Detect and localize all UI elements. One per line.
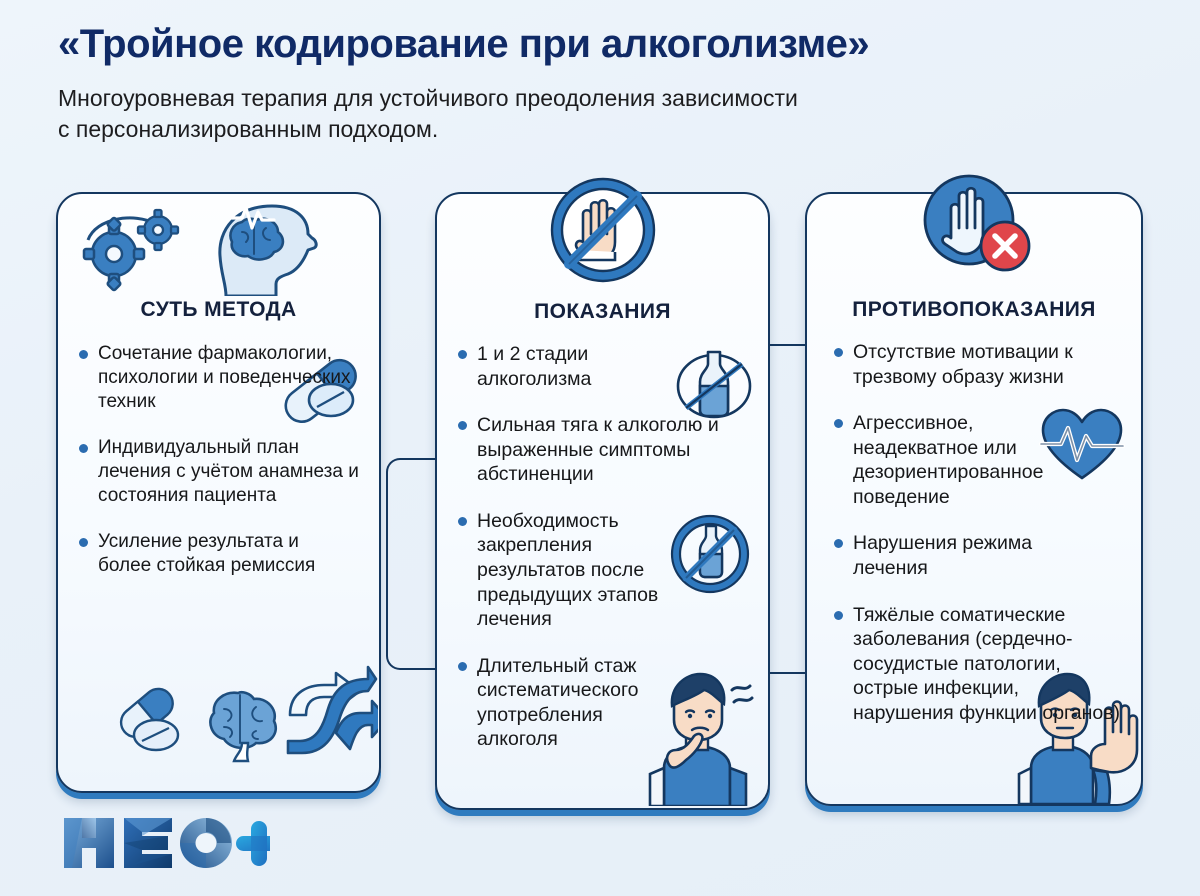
list-item: Отсутствие мотивации к трезвому образу ж… (831, 340, 1123, 389)
list-item: Индивидуальный план лечения с учётом ана… (76, 436, 361, 508)
bullet-list-pokazaniya: 1 и 2 стадии алкоголизма Сильная тяга к … (455, 342, 750, 752)
brain-icon (210, 692, 275, 761)
cards-row: СУТЬ МЕТОДА Сочетание фармакологии, псих… (0, 192, 1200, 812)
list-item: Необходимость закрепления результатов по… (455, 509, 680, 632)
card-protivopokazaniya[interactable]: ПРОТИВОПОКАЗАНИЯ Отсутствие мотивации к … (805, 192, 1143, 806)
list-item: Сочетание фармакологии, психологии и пов… (76, 342, 354, 414)
list-item: Длительный стаж систематического употреб… (455, 654, 673, 752)
neo-plus-logo[interactable] (60, 812, 270, 874)
card-pokazaniya[interactable]: ПОКАЗАНИЯ 1 и 2 стадии алкоголизма Сильн… (435, 192, 770, 810)
page-title: «Тройное кодирование при алкоголизме» (58, 22, 1150, 67)
list-item: Сильная тяга к алкоголю и выраженные сим… (455, 413, 747, 487)
list-item: Тяжёлые соматические заболевания (сердеч… (831, 603, 1123, 726)
stop-hand-prohibited-icon (545, 172, 661, 288)
list-item: Нарушения режима лечения (831, 531, 1041, 580)
list-item: 1 и 2 стадии алкоголизма (455, 342, 633, 391)
connector-bracket-left (386, 458, 438, 670)
page-subtitle: Многоуровневая терапия для устойчивого п… (58, 83, 1150, 145)
shuffle-arrows-icon (288, 667, 378, 753)
card-sut-metoda[interactable]: СУТЬ МЕТОДА Сочетание фармакологии, псих… (56, 192, 381, 793)
bullet-list-sut-metoda: Сочетание фармакологии, психологии и пов… (76, 342, 361, 578)
list-item: Усиление результата и более стойкая реми… (76, 530, 346, 578)
subtitle-line-1: Многоуровневая терапия для устойчивого п… (58, 83, 1150, 114)
pill-capsule-tablet-icon (115, 683, 178, 750)
bullet-list-protivopokazaniya: Отсутствие мотивации к трезвому образу ж… (825, 340, 1123, 725)
stop-hand-red-cross-icon (915, 168, 1033, 282)
page-header: «Тройное кодирование при алкоголизме» Мн… (0, 0, 1200, 145)
list-item: Агрессивное, неадекватное или дезориенти… (831, 411, 1071, 509)
subtitle-line-2: с персонализированным подходом. (58, 114, 1150, 145)
gears-brain-head-icon (72, 198, 368, 296)
card-1-bottom-art (110, 659, 378, 777)
